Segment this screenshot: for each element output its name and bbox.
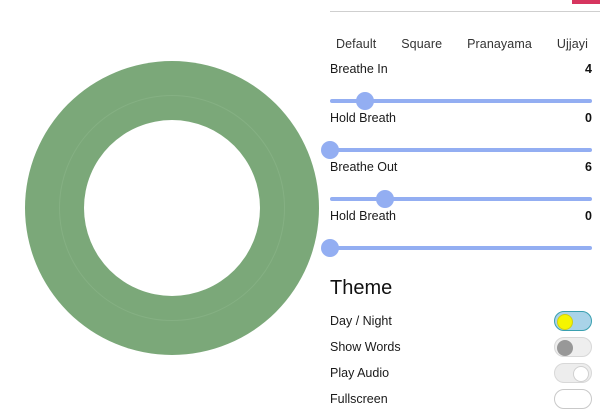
slider-hold-breath-1-head: Hold Breath 0: [330, 111, 592, 129]
toggle-show-words-knob: [557, 340, 573, 356]
settings-panel: Default Square Pranayama Ujjayi Breathe …: [322, 0, 600, 416]
slider-hold-breath-2-head: Hold Breath 0: [330, 209, 592, 227]
toggle-fullscreen[interactable]: [554, 389, 592, 409]
toggle-fullscreen-label: Fullscreen: [330, 392, 388, 406]
slider-breathe-in-thumb[interactable]: [356, 92, 374, 110]
toggle-row-show-words: Show Words: [330, 334, 592, 360]
toggle-row-play-audio: Play Audio: [330, 360, 592, 386]
slider-breathe-out-label: Breathe Out: [330, 160, 397, 174]
tab-square[interactable]: Square: [401, 37, 442, 51]
slider-breathe-in-value: 4: [585, 62, 592, 76]
slider-hold-breath-2-thumb[interactable]: [321, 239, 339, 257]
toggle-play-audio[interactable]: [554, 363, 592, 383]
toggle-row-fullscreen: Fullscreen: [330, 386, 592, 412]
theme-heading: Theme: [330, 277, 392, 300]
toggle-show-words-label: Show Words: [330, 340, 401, 354]
toggle-show-words[interactable]: [554, 337, 592, 357]
breathing-app: Default Square Pranayama Ujjayi Breathe …: [0, 0, 600, 416]
slider-breathe-in-label: Breathe In: [330, 62, 388, 76]
tab-pranayama[interactable]: Pranayama: [467, 37, 532, 51]
preset-tabs: Default Square Pranayama Ujjayi: [322, 32, 600, 56]
slider-hold-breath-1-thumb[interactable]: [321, 141, 339, 159]
slider-breathe-out-track[interactable]: [330, 197, 592, 201]
slider-hold-breath-2-value: 0: [585, 209, 592, 223]
slider-breathe-in: Breathe In 4: [330, 62, 592, 111]
slider-hold-breath-1: Hold Breath 0: [330, 111, 592, 160]
slider-hold-breath-1-track[interactable]: [330, 148, 592, 152]
slider-hold-breath-1-label: Hold Breath: [330, 111, 396, 125]
toggle-day-night[interactable]: [554, 311, 592, 331]
toggle-day-night-label: Day / Night: [330, 314, 392, 328]
slider-hold-breath-1-value: 0: [585, 111, 592, 125]
breathing-visualizer[interactable]: [0, 0, 322, 416]
toggle-row-day-night: Day / Night: [330, 308, 592, 334]
toggle-day-night-knob: [557, 314, 573, 330]
slider-hold-breath-2-label: Hold Breath: [330, 209, 396, 223]
progress-accent-bar: [572, 0, 600, 4]
tab-default[interactable]: Default: [336, 37, 376, 51]
slider-breathe-in-control[interactable]: [330, 92, 592, 110]
slider-hold-breath-2-control[interactable]: [330, 239, 592, 257]
slider-hold-breath-1-control[interactable]: [330, 141, 592, 159]
slider-breathe-out-thumb[interactable]: [376, 190, 394, 208]
slider-breathe-in-head: Breathe In 4: [330, 62, 592, 80]
slider-breathe-out-value: 6: [585, 160, 592, 174]
slider-breathe-out-head: Breathe Out 6: [330, 160, 592, 178]
toggle-play-audio-label: Play Audio: [330, 366, 389, 380]
slider-hold-breath-2-track[interactable]: [330, 246, 592, 250]
slider-breathe-out-control[interactable]: [330, 190, 592, 208]
tab-ujjayi[interactable]: Ujjayi: [557, 37, 588, 51]
breath-timing-sliders: Breathe In 4 Hold Breath 0: [330, 62, 592, 258]
toggle-play-audio-knob: [573, 366, 589, 382]
theme-toggle-list: Day / Night Show Words Play Audio Fullsc…: [330, 308, 592, 412]
slider-hold-breath-2: Hold Breath 0: [330, 209, 592, 258]
panel-divider: [330, 11, 600, 12]
breath-ring-inner-hole: [84, 120, 260, 296]
slider-breathe-out: Breathe Out 6: [330, 160, 592, 209]
